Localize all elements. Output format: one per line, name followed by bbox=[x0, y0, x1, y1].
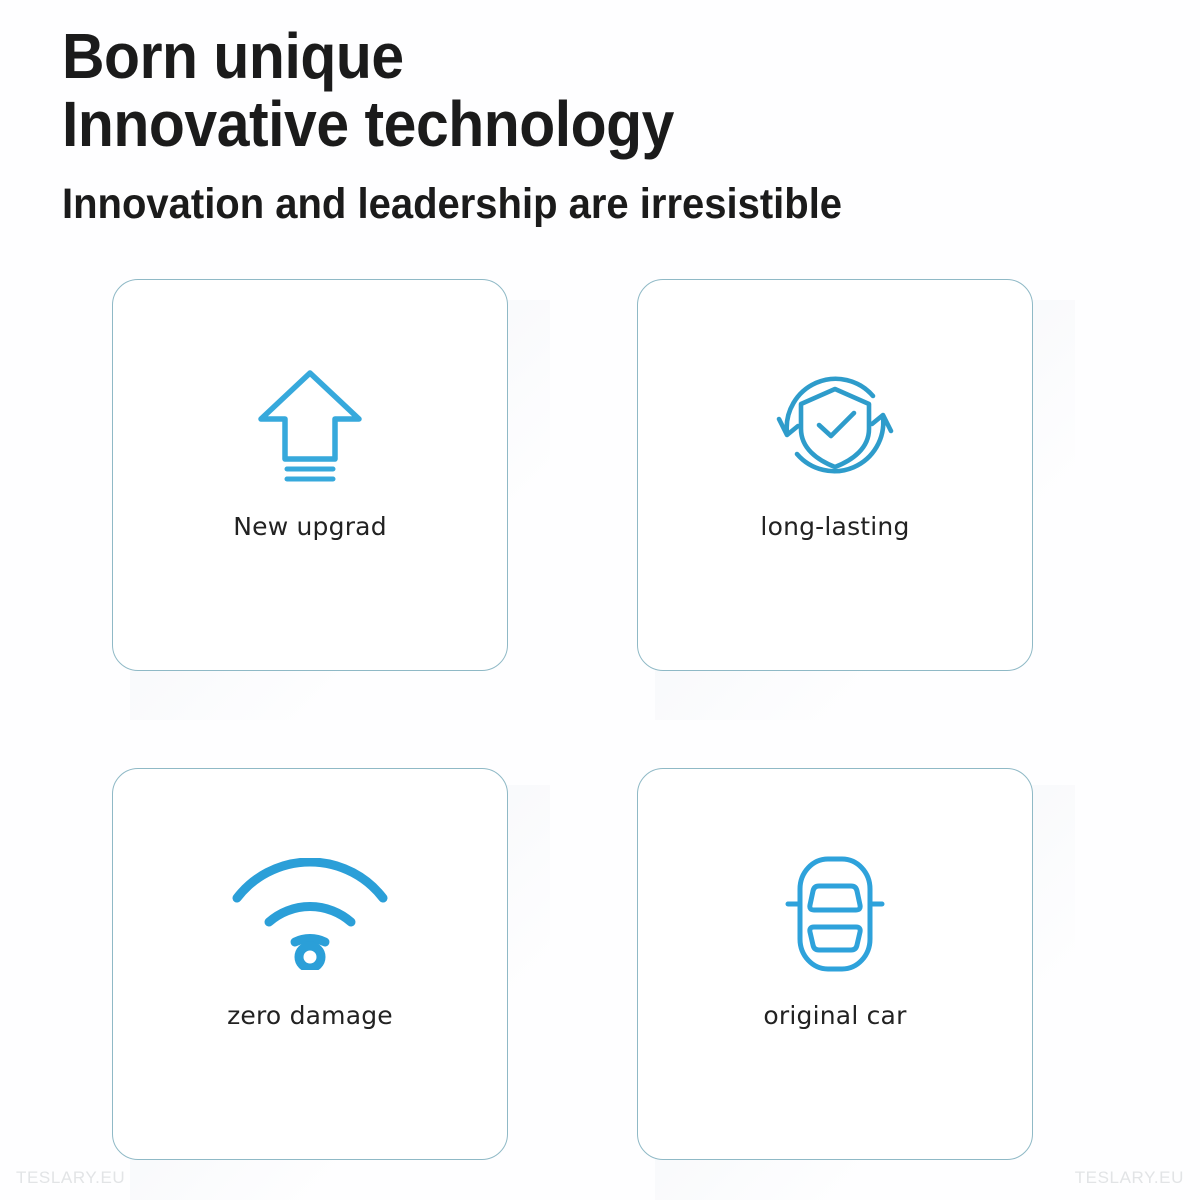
promo-page: Born unique Innovative technology Innova… bbox=[0, 0, 1200, 1200]
wifi-icon bbox=[225, 858, 395, 970]
feature-card-long-lasting[interactable]: long-lasting bbox=[637, 279, 1033, 671]
icon-container bbox=[769, 360, 901, 490]
headline-line-1: Born unique bbox=[62, 22, 982, 90]
page-subtitle: Innovation and leadership are irresistib… bbox=[62, 178, 992, 230]
feature-card-new-upgrad[interactable]: New upgrad bbox=[112, 279, 508, 671]
feature-card-grid: New upgrad long-lasting bbox=[112, 279, 1037, 1163]
upload-arrow-icon bbox=[251, 363, 369, 487]
icon-container bbox=[251, 360, 369, 490]
shield-check-refresh-icon bbox=[769, 363, 901, 487]
car-top-view-icon bbox=[776, 851, 894, 977]
page-heading-block: Born unique Innovative technology Innova… bbox=[62, 22, 1062, 230]
feature-card-label: original car bbox=[763, 1001, 906, 1030]
feature-card-label: zero damage bbox=[227, 1001, 393, 1030]
icon-container bbox=[225, 849, 395, 979]
watermark-right: TESLARY.EU bbox=[1075, 1168, 1184, 1188]
watermark-left: TESLARY.EU bbox=[16, 1168, 125, 1188]
feature-card-zero-damage[interactable]: zero damage bbox=[112, 768, 508, 1160]
feature-card-label: New upgrad bbox=[233, 512, 387, 541]
feature-card-label: long-lasting bbox=[760, 512, 909, 541]
feature-card-original-car[interactable]: original car bbox=[637, 768, 1033, 1160]
icon-container bbox=[776, 849, 894, 979]
headline-line-2: Innovative technology bbox=[62, 90, 982, 158]
